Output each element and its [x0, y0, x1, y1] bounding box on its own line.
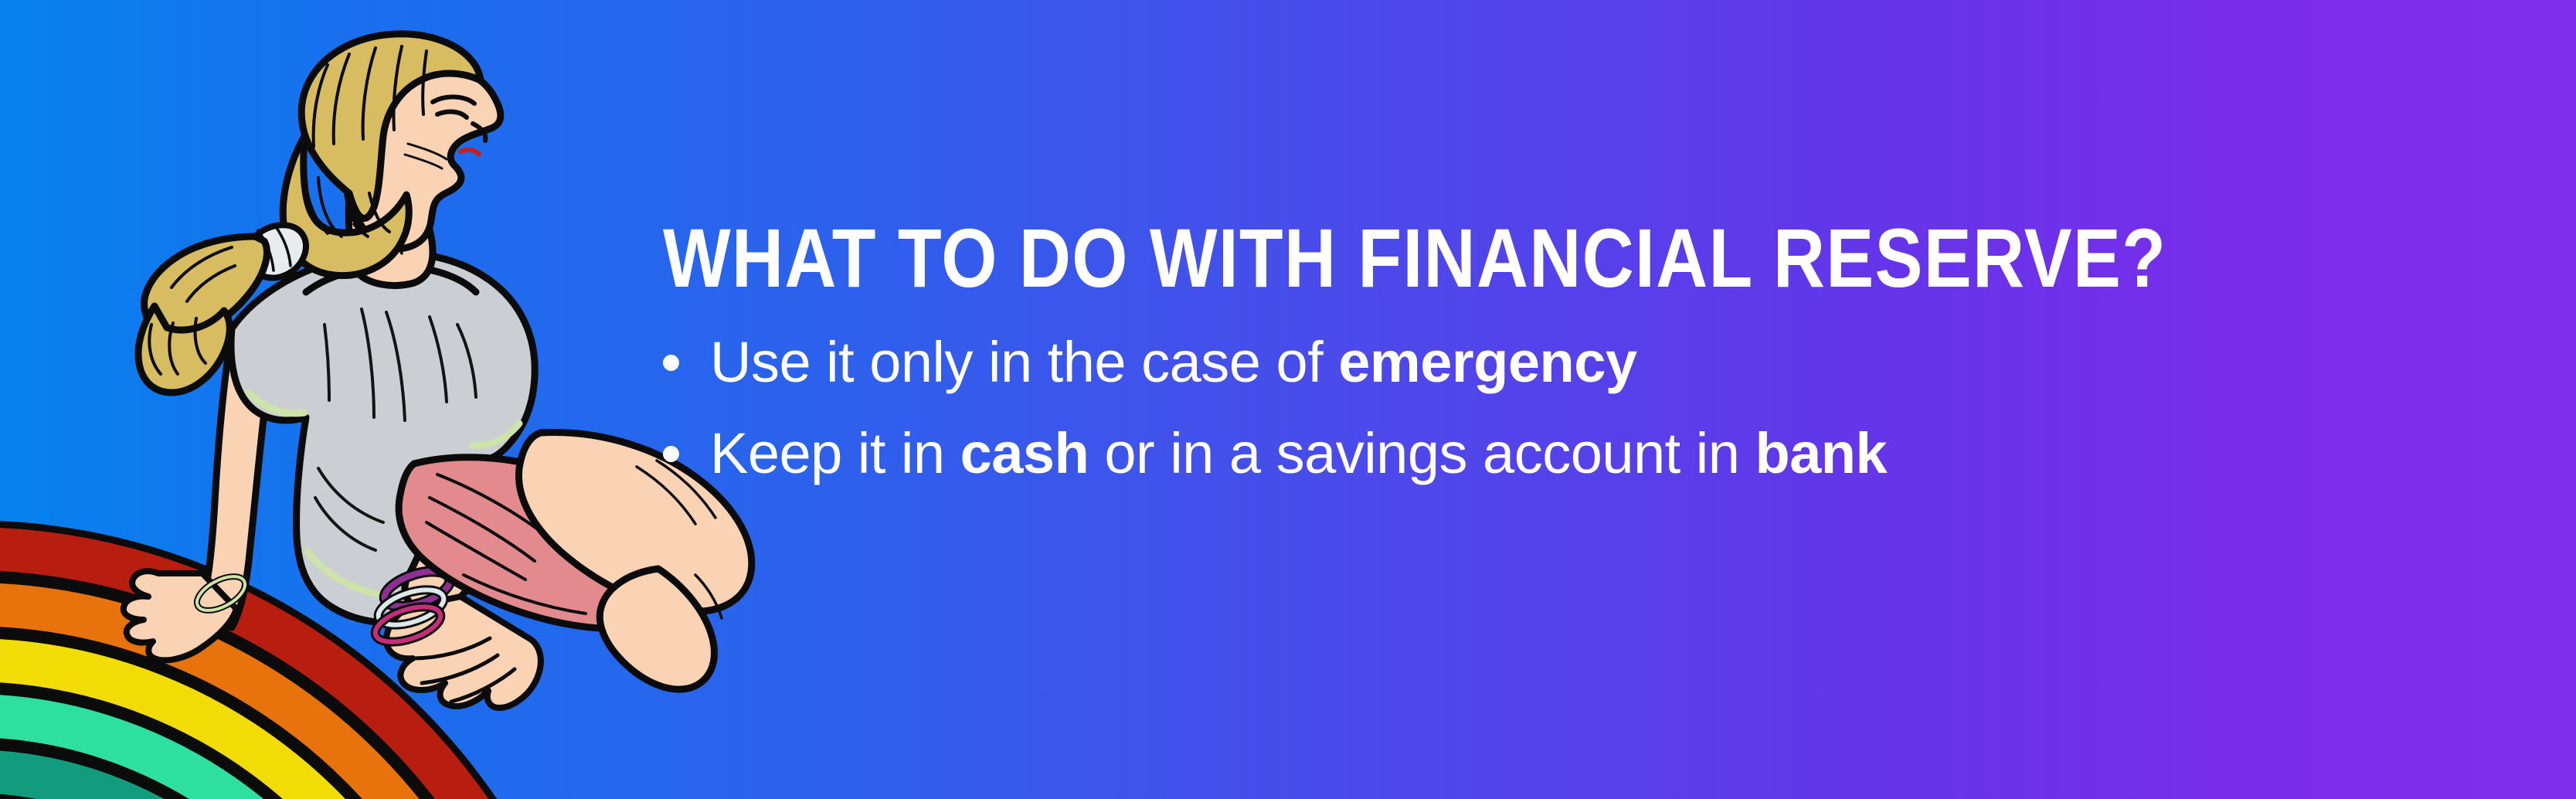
bullet-item-emergency: Use it only in the case of emergency	[663, 334, 2425, 391]
bullet-segment-bold: cash	[960, 421, 1089, 485]
bullet-segment-bold: emergency	[1338, 330, 1636, 394]
financial-reserve-banner: WHAT TO DO WITH FINANCIAL RESERVE? Use i…	[0, 0, 2576, 799]
bullet-segment-regular: Use it only in the case of	[710, 330, 1338, 394]
banner-headline: WHAT TO DO WITH FINANCIAL RESERVE?	[663, 216, 2178, 300]
banner-text-block: WHAT TO DO WITH FINANCIAL RESERVE? Use i…	[663, 216, 2425, 482]
woman-figure	[124, 34, 752, 708]
bullet-item-cash-bank: Keep it in cash or in a savings account …	[663, 425, 2425, 482]
banner-bullet-list: Use it only in the case of emergency Kee…	[663, 334, 2425, 482]
bullet-text-cash-bank: Keep it in cash or in a savings account …	[710, 425, 1887, 482]
bullet-text-emergency: Use it only in the case of emergency	[710, 334, 1637, 391]
bullet-dot-icon	[663, 446, 679, 462]
bullet-dot-icon	[663, 355, 679, 371]
lips	[460, 150, 479, 155]
bullet-segment-bold: bank	[1755, 421, 1887, 485]
bullet-segment-regular: Keep it in	[710, 421, 960, 485]
bullet-segment-regular: or in a savings account in	[1089, 421, 1755, 485]
